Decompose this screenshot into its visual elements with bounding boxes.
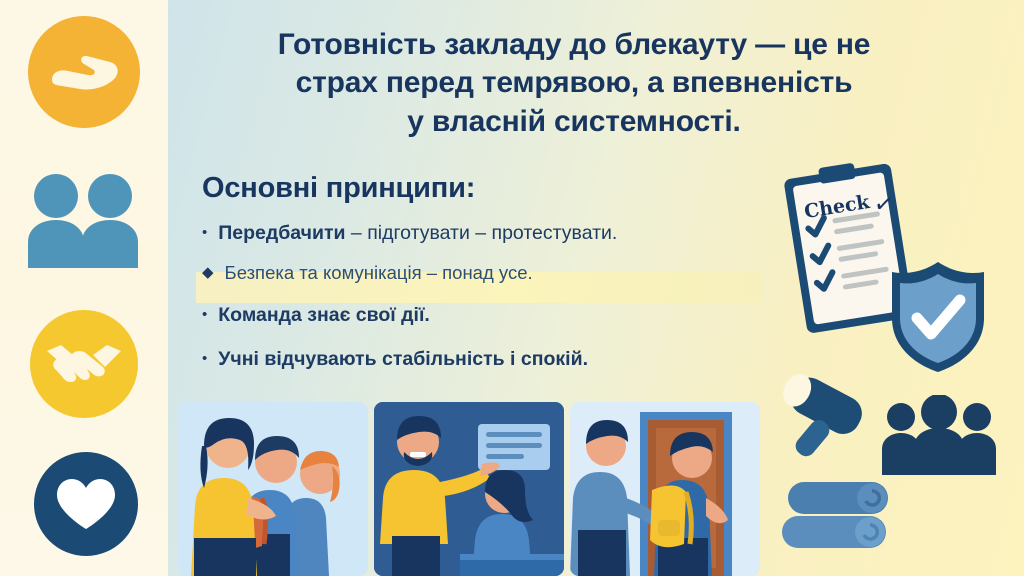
heart-icon: Серце: [34, 452, 138, 556]
helping-hand-icon: Долоня підтримки: [28, 16, 140, 128]
headline-line-2: страх перед темрявою, а впевненість: [196, 64, 952, 102]
page-title: Готовність закладу до блекауту — це не с…: [196, 26, 952, 141]
photo-strip: Вчителька у жовтому та двоє учнів: [178, 402, 778, 576]
bullet-dot-icon: •: [202, 351, 207, 366]
sidebar-icon-column: Долоня підтримки Дві людини Рукостисканн…: [0, 0, 168, 576]
list-item-label: Команда знає свої дії.: [218, 306, 430, 326]
bullet-diamond-icon: ◆: [202, 265, 214, 280]
infographic-canvas: Долоня підтримки Дві людини Рукостисканн…: [0, 0, 1024, 576]
list-item-label: Учні відчувають стабільність і спокій.: [218, 350, 588, 370]
photo-teacher-with-students: Вчителька у жовтому та двоє учнів: [178, 402, 368, 576]
list-item-label: Безпека та комунікація – понад усе.: [225, 264, 533, 283]
section-subheading: Основні принципи:: [202, 172, 475, 205]
principles-list: • Передбачити – підготувати – протестува…: [202, 224, 802, 390]
two-people-label: Дві людини: [146, 170, 147, 171]
people-group-icon: Група людей: [880, 395, 998, 477]
list-item: • Передбачити – підготувати – протестува…: [202, 224, 802, 264]
list-item: • Команда знає свої дії.: [202, 306, 802, 350]
photo-teacher-briefing: Вчитель пояснює біля інформаційної дошки: [374, 402, 564, 576]
list-item-emphasis: Передбачити: [218, 222, 345, 244]
handshake-icon: Рукостискання: [30, 310, 138, 418]
clipboard-check-icon: ✓: [872, 189, 896, 221]
flashlight-icon: Ліхтарик: [766, 372, 876, 468]
shield-check-icon: Щит із галочкою: [886, 258, 990, 376]
list-item-label: Передбачити – підготувати – протестувати…: [218, 224, 617, 244]
list-item-rest: – підготувати – протестувати.: [346, 222, 618, 244]
list-item: ◆ Безпека та комунікація – понад усе.: [202, 264, 802, 306]
rolled-blankets-icon: Згорнуті пледи: [780, 478, 898, 554]
two-people-icon: Дві людини: [22, 170, 146, 270]
headline-line-3: у власній системності.: [196, 103, 952, 141]
bullet-dot-icon: •: [202, 225, 207, 240]
photo-students-at-door: Двоє учнів біля дверей з рюкзаком: [570, 402, 760, 576]
bullet-dot-icon: •: [202, 307, 207, 322]
list-item: • Учні відчувають стабільність і спокій.: [202, 350, 802, 390]
headline-line-1: Готовність закладу до блекауту — це не: [196, 26, 952, 64]
